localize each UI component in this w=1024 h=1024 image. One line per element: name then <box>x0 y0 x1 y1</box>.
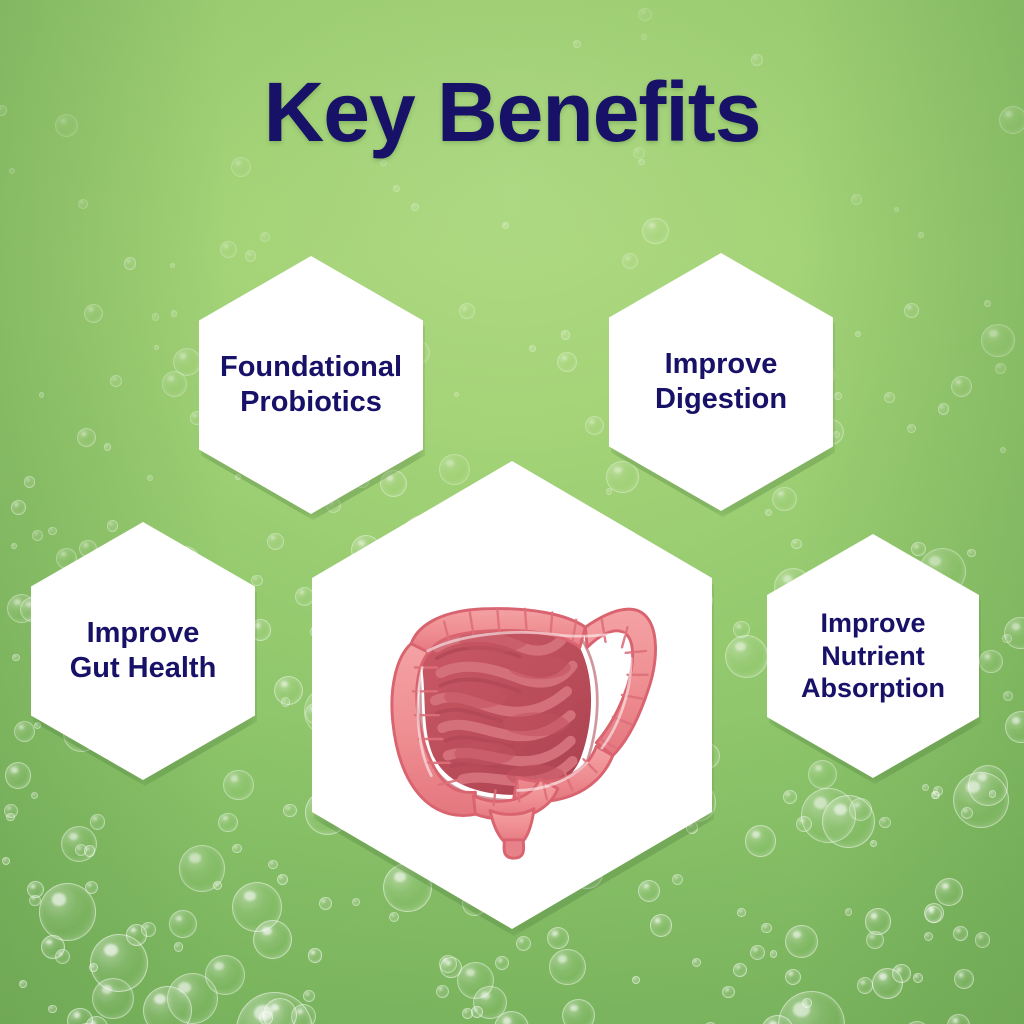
page-title: Key Benefits <box>0 64 1024 161</box>
poster-canvas: Key Benefits Foundational Probiotics Imp… <box>0 0 1024 1024</box>
intestines-illustration <box>347 530 677 860</box>
benefit-label: Improve Nutrient Absorption <box>801 607 945 706</box>
benefit-label: Improve Gut Health <box>70 616 217 687</box>
benefit-label: Foundational Probiotics <box>220 350 402 421</box>
benefit-label: Improve Digestion <box>655 347 787 418</box>
